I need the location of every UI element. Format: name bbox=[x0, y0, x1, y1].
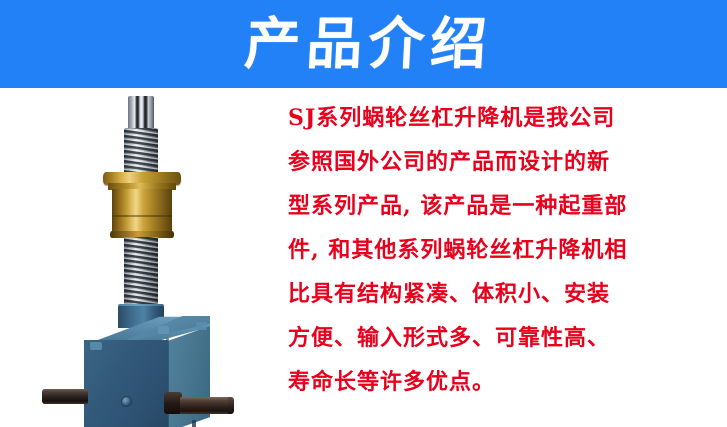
description-line: 件, 和其他系列蜗轮丝杠升降机相 bbox=[288, 228, 708, 272]
gearbox-bolt-pad bbox=[90, 342, 102, 350]
product-description: SJ系列蜗轮丝杠升降机是我公司 参照国外公司的产品而设计的新 型系列产品, 该产… bbox=[288, 96, 708, 404]
product-photo bbox=[40, 90, 270, 425]
gearbox-vent-slot bbox=[192, 420, 196, 427]
product-intro-page: 产品介绍 bbox=[0, 0, 727, 427]
gearbox-bolt-pad bbox=[158, 326, 169, 334]
description-line: 参照国外公司的产品而设计的新 bbox=[288, 140, 708, 184]
screw-thread-upper bbox=[124, 128, 158, 174]
content-area: SJ系列蜗轮丝杠升降机是我公司 参照国外公司的产品而设计的新 型系列产品, 该产… bbox=[0, 88, 727, 427]
gearbox-front-face bbox=[84, 340, 168, 427]
header-banner: 产品介绍 bbox=[0, 0, 727, 88]
page-title: 产品介绍 bbox=[0, 0, 727, 88]
input-shaft-right bbox=[180, 397, 232, 414]
gearbox-bolt-pad bbox=[196, 322, 207, 330]
description-line: 比具有结构紧凑、体积小、安装 bbox=[288, 272, 708, 316]
description-line: SJ系列蜗轮丝杠升降机是我公司 bbox=[288, 96, 708, 140]
description-line: 型系列产品, 该产品是一种起重部 bbox=[288, 184, 708, 228]
description-line: 寿命长等许多优点。 bbox=[288, 360, 708, 404]
brass-nut-body bbox=[112, 189, 172, 233]
input-shaft-left bbox=[44, 389, 88, 404]
screw-thread-lower bbox=[124, 237, 158, 309]
gearbox-oil-plug bbox=[122, 397, 131, 406]
input-shaft-right-cap bbox=[228, 397, 234, 414]
description-line: 方便、输入形式多、可靠性高、 bbox=[288, 316, 708, 360]
screw-shaft-top bbox=[128, 96, 154, 130]
